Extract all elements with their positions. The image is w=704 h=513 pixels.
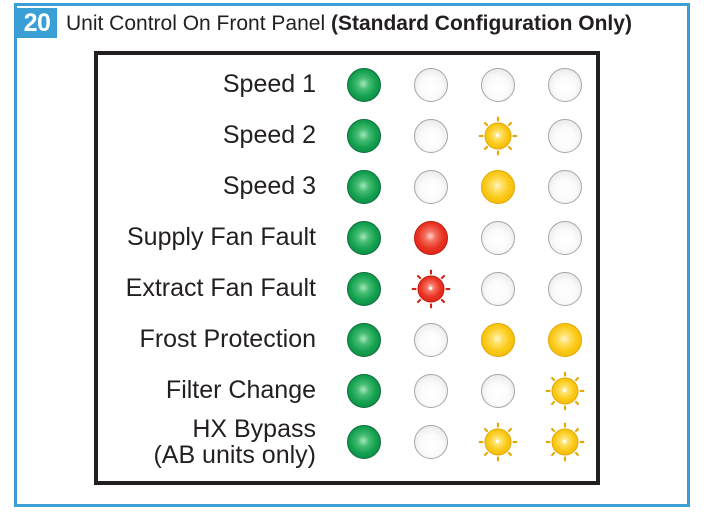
led-cell bbox=[330, 263, 397, 314]
led-cell bbox=[330, 314, 397, 365]
led-indicator-green-icon bbox=[347, 221, 381, 255]
led-bulb bbox=[347, 323, 381, 357]
row-label: Extract Fan Fault bbox=[98, 275, 330, 301]
led-bulb bbox=[414, 425, 448, 459]
led-center-highlight bbox=[429, 287, 432, 290]
led-matrix-row: Speed 2 bbox=[98, 110, 596, 161]
led-matrix-row: Extract Fan Fault bbox=[98, 263, 596, 314]
led-indicator-green-icon bbox=[347, 119, 381, 153]
led-cell bbox=[464, 59, 531, 110]
led-indicator-yellow-flash-icon bbox=[548, 425, 582, 459]
page-title-bold: (Standard Configuration Only) bbox=[331, 12, 632, 35]
row-led-group bbox=[330, 110, 598, 161]
led-bulb bbox=[481, 374, 515, 408]
led-bulb bbox=[414, 323, 448, 357]
led-bulb bbox=[347, 221, 381, 255]
led-indicator-yellow-flash-icon bbox=[481, 425, 515, 459]
row-label-line-1: HX Bypass bbox=[98, 416, 316, 442]
led-bulb bbox=[548, 272, 582, 306]
led-bulb bbox=[548, 221, 582, 255]
led-bulb bbox=[414, 119, 448, 153]
led-bulb bbox=[481, 323, 515, 357]
led-cell bbox=[531, 416, 598, 467]
led-bulb bbox=[481, 68, 515, 102]
led-cell bbox=[464, 110, 531, 161]
led-matrix-row: Supply Fan Fault bbox=[98, 212, 596, 263]
row-label: Speed 1 bbox=[98, 71, 330, 97]
led-cell bbox=[531, 212, 598, 263]
row-led-group bbox=[330, 212, 598, 263]
led-indicator-off-icon bbox=[481, 221, 515, 255]
led-bulb bbox=[414, 170, 448, 204]
led-bulb bbox=[548, 119, 582, 153]
row-led-group bbox=[330, 59, 598, 110]
led-cell bbox=[464, 365, 531, 416]
row-led-group bbox=[330, 416, 598, 467]
led-matrix-row: Speed 1 bbox=[98, 59, 596, 110]
led-bulb bbox=[414, 221, 448, 255]
led-indicator-off-icon bbox=[481, 272, 515, 306]
led-indicator-off-icon bbox=[414, 170, 448, 204]
page-title: Unit Control On Front Panel (Standard Co… bbox=[66, 13, 632, 34]
led-cell bbox=[330, 110, 397, 161]
led-indicator-green-icon bbox=[347, 272, 381, 306]
led-bulb bbox=[481, 272, 515, 306]
led-cell bbox=[464, 212, 531, 263]
led-cell bbox=[531, 161, 598, 212]
led-indicator-off-icon bbox=[548, 119, 582, 153]
led-bulb bbox=[347, 374, 381, 408]
led-cell bbox=[330, 416, 397, 467]
led-cell bbox=[464, 416, 531, 467]
led-bulb bbox=[347, 272, 381, 306]
section-number-badge: 20 bbox=[17, 8, 57, 38]
row-led-group bbox=[330, 161, 598, 212]
led-bulb bbox=[548, 68, 582, 102]
led-center-highlight bbox=[496, 134, 499, 137]
led-cell bbox=[531, 110, 598, 161]
led-cell bbox=[330, 59, 397, 110]
led-indicator-yellow-icon bbox=[481, 170, 515, 204]
led-indicator-yellow-flash-icon bbox=[481, 119, 515, 153]
led-cell bbox=[397, 365, 464, 416]
row-label: Speed 2 bbox=[98, 122, 330, 148]
led-indicator-off-icon bbox=[414, 374, 448, 408]
led-cell bbox=[397, 263, 464, 314]
led-indicator-yellow-icon bbox=[548, 323, 582, 357]
led-indicator-red-flash-icon bbox=[414, 272, 448, 306]
page-title-regular: Unit Control On Front Panel bbox=[66, 12, 331, 35]
led-cell bbox=[397, 110, 464, 161]
led-indicator-off-icon bbox=[548, 68, 582, 102]
led-cell bbox=[464, 263, 531, 314]
led-indicator-off-icon bbox=[481, 68, 515, 102]
led-cell bbox=[330, 365, 397, 416]
led-indicator-off-icon bbox=[414, 68, 448, 102]
row-label: Speed 3 bbox=[98, 173, 330, 199]
led-indicator-off-icon bbox=[414, 119, 448, 153]
led-center-highlight bbox=[563, 389, 566, 392]
led-indicator-green-icon bbox=[347, 425, 381, 459]
row-label: HX Bypass(AB units only) bbox=[98, 416, 330, 468]
row-label: Supply Fan Fault bbox=[98, 224, 330, 250]
led-bulb bbox=[481, 221, 515, 255]
led-cell bbox=[397, 416, 464, 467]
led-bulb bbox=[347, 170, 381, 204]
row-label-line-2: (AB units only) bbox=[98, 442, 316, 468]
led-cell bbox=[397, 59, 464, 110]
led-indicator-off-icon bbox=[414, 323, 448, 357]
page-root: 20 Unit Control On Front Panel (Standard… bbox=[0, 0, 704, 513]
led-cell bbox=[531, 314, 598, 365]
led-indicator-green-icon bbox=[347, 323, 381, 357]
led-indicator-off-icon bbox=[481, 374, 515, 408]
row-label: Filter Change bbox=[98, 377, 330, 403]
led-center-highlight bbox=[563, 440, 566, 443]
led-indicator-off-icon bbox=[548, 221, 582, 255]
led-cell bbox=[397, 161, 464, 212]
led-matrix-rows: Speed 1Speed 2Speed 3Supply Fan FaultExt… bbox=[98, 55, 596, 481]
led-center-highlight bbox=[496, 440, 499, 443]
row-led-group bbox=[330, 314, 598, 365]
led-indicator-green-icon bbox=[347, 68, 381, 102]
led-bulb bbox=[548, 170, 582, 204]
led-indicator-off-icon bbox=[548, 272, 582, 306]
header: 20 Unit Control On Front Panel (Standard… bbox=[17, 6, 687, 40]
led-indicator-green-icon bbox=[347, 170, 381, 204]
led-cell bbox=[464, 161, 531, 212]
row-led-group bbox=[330, 263, 598, 314]
led-indicator-yellow-icon bbox=[481, 323, 515, 357]
led-cell bbox=[397, 212, 464, 263]
led-cell bbox=[464, 314, 531, 365]
led-cell bbox=[330, 161, 397, 212]
led-cell bbox=[531, 365, 598, 416]
led-bulb bbox=[347, 68, 381, 102]
led-bulb bbox=[414, 374, 448, 408]
led-matrix-panel: Speed 1Speed 2Speed 3Supply Fan FaultExt… bbox=[94, 51, 600, 485]
led-cell bbox=[397, 314, 464, 365]
led-cell bbox=[531, 263, 598, 314]
led-indicator-off-icon bbox=[414, 425, 448, 459]
led-cell bbox=[531, 59, 598, 110]
led-bulb bbox=[347, 119, 381, 153]
led-cell bbox=[330, 212, 397, 263]
row-label: Frost Protection bbox=[98, 326, 330, 352]
led-bulb bbox=[548, 323, 582, 357]
led-indicator-off-icon bbox=[548, 170, 582, 204]
led-matrix-row: Filter Change bbox=[98, 365, 596, 416]
row-led-group bbox=[330, 365, 598, 416]
led-matrix-row: Speed 3 bbox=[98, 161, 596, 212]
led-matrix-row: Frost Protection bbox=[98, 314, 596, 365]
led-matrix-row: HX Bypass(AB units only) bbox=[98, 416, 596, 467]
led-indicator-green-icon bbox=[347, 374, 381, 408]
led-indicator-red-icon bbox=[414, 221, 448, 255]
led-indicator-yellow-flash-icon bbox=[548, 374, 582, 408]
led-bulb bbox=[414, 68, 448, 102]
led-bulb bbox=[347, 425, 381, 459]
led-bulb bbox=[481, 170, 515, 204]
